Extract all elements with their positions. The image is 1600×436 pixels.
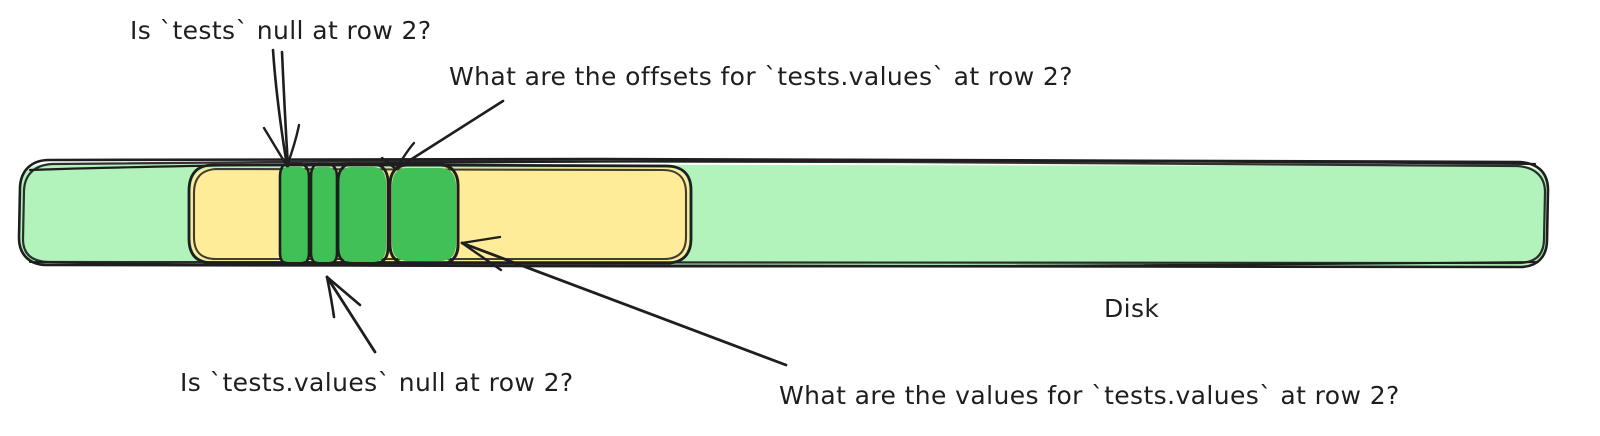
- segment-fill: [281, 167, 308, 262]
- disk-label: Disk: [1104, 294, 1159, 323]
- segment-fill: [339, 167, 386, 262]
- annotation-values-offsets: What are the offsets for `tests.values` …: [449, 62, 1073, 91]
- arrow-values-null: [327, 277, 375, 352]
- segment-tests-null-bitmap: [280, 164, 309, 264]
- segment-fill: [312, 167, 336, 262]
- arrow-tests-null: [264, 50, 299, 166]
- segment-values-offsets-buffer: [338, 164, 388, 264]
- annotation-values-null: Is `tests.values` null at row 2?: [180, 368, 574, 397]
- diagram-canvas: Is `tests` null at row 2? What are the o…: [0, 0, 1600, 436]
- annotation-values-data: What are the values for `tests.values` a…: [779, 381, 1400, 410]
- segment-fill: [392, 168, 456, 261]
- annotation-tests-null: Is `tests` null at row 2?: [130, 16, 432, 45]
- buffer-segments: [280, 164, 458, 264]
- segment-values-null-bitmap: [311, 164, 337, 264]
- segment-values-data-buffer: [390, 165, 458, 264]
